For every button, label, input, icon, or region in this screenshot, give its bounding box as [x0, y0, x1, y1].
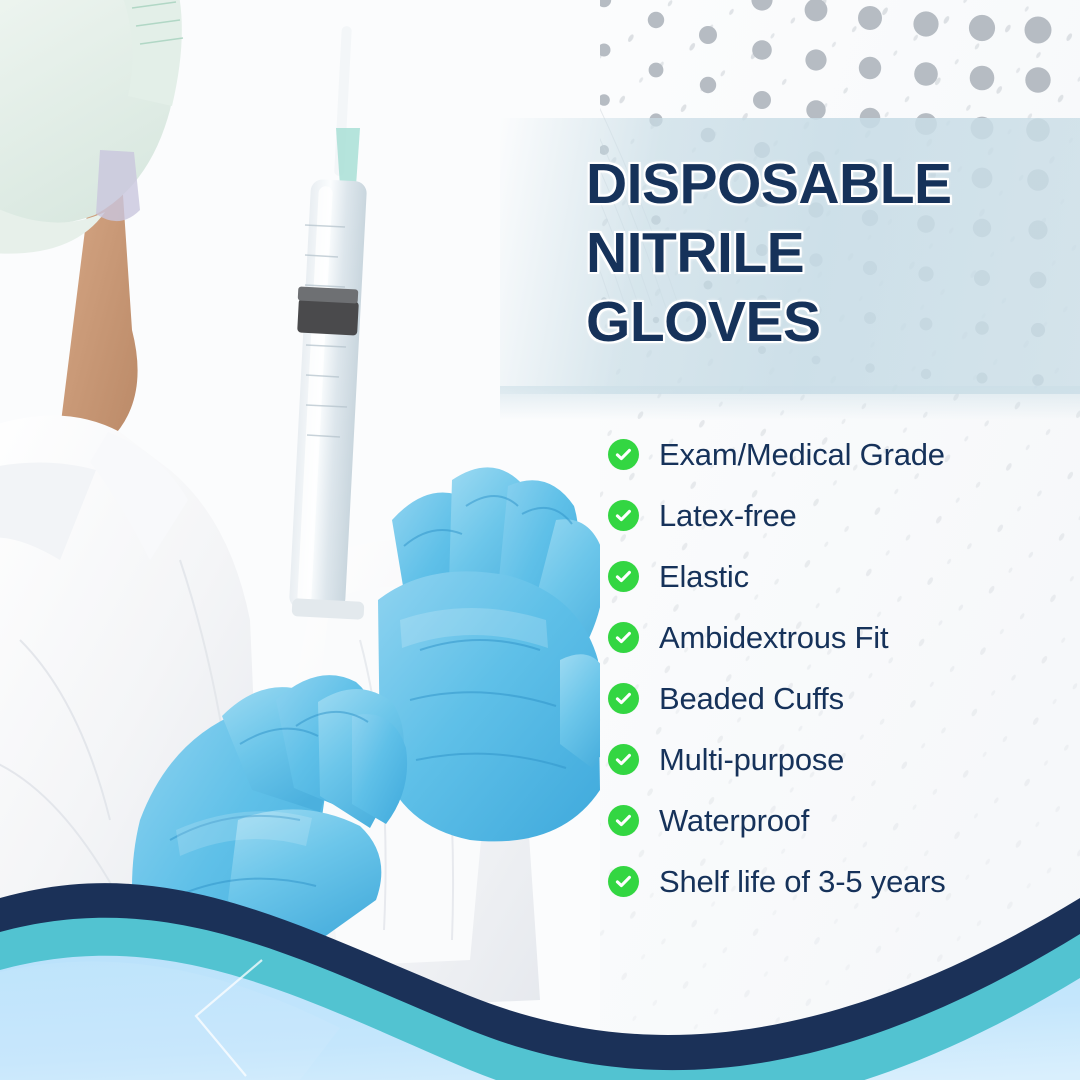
list-item: Latex-free — [608, 485, 1058, 546]
title-line-1: DISPOSABLE — [586, 150, 1056, 219]
check-circle-icon — [608, 500, 639, 531]
feature-label: Exam/Medical Grade — [659, 437, 945, 473]
feature-label: Multi-purpose — [659, 742, 844, 778]
check-circle-icon — [608, 683, 639, 714]
feature-label: Elastic — [659, 559, 749, 595]
title-line-3: GLOVES — [586, 288, 1056, 357]
list-item: Elastic — [608, 546, 1058, 607]
feature-label: Latex-free — [659, 498, 797, 534]
check-circle-icon — [608, 622, 639, 653]
list-item: Multi-purpose — [608, 729, 1058, 790]
title-line-2: NITRILE — [586, 219, 1056, 288]
bottom-wave-decoration — [0, 820, 1080, 1080]
check-circle-icon — [608, 439, 639, 470]
poster-canvas: DISPOSABLE NITRILE GLOVES Exam/Medical G… — [0, 0, 1080, 1080]
list-item: Beaded Cuffs — [608, 668, 1058, 729]
check-circle-icon — [608, 561, 639, 592]
feature-label: Ambidextrous Fit — [659, 620, 888, 656]
list-item: Ambidextrous Fit — [608, 607, 1058, 668]
feature-label: Beaded Cuffs — [659, 681, 844, 717]
list-item: Exam/Medical Grade — [608, 424, 1058, 485]
page-title: DISPOSABLE NITRILE GLOVES — [586, 150, 1056, 357]
check-circle-icon — [608, 744, 639, 775]
